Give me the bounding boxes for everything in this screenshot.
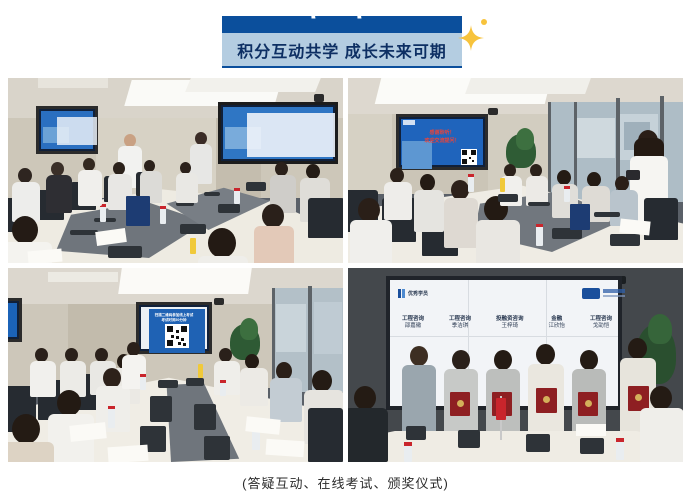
award-name: 季洁琪 xyxy=(449,323,471,330)
award-column: 投融资咨询王梓琦 xyxy=(496,316,524,330)
photo-bottom-left: 扫描二维码参加线上考试 考试时间30分钟 xyxy=(8,268,343,462)
award-category: 工程咨询 xyxy=(590,316,612,323)
award-column: 工程咨询邵嘉徽 xyxy=(402,316,424,330)
award-slide-title: 优秀学员 xyxy=(408,290,428,297)
banner-underline xyxy=(222,66,462,68)
photo-top-right: 感谢聆听！ 欢迎交流提问！ xyxy=(348,78,683,263)
award-name: 戈劭恺 xyxy=(590,323,612,330)
banner: ‘ ‘ 积分互动共学 成长未来可期 xyxy=(222,16,462,68)
award-column: 工程咨询戈劭恺 xyxy=(590,316,612,330)
award-column: 工程咨询季洁琪 xyxy=(449,316,471,330)
award-name: 江欣怡 xyxy=(548,323,565,330)
award-column: 金融江欣怡 xyxy=(548,316,565,330)
photo-top-left xyxy=(8,78,343,263)
photo-caption: (答疑互动、在线考试、颁奖仪式) xyxy=(0,473,691,492)
photo-grid: 感谢聆听！ 欢迎交流提问！ xyxy=(8,78,683,462)
photo-bottom-right: 优秀学员 工程咨询邵嘉徽工程咨询季洁琪投融资咨询王梓琦金融江欣怡工程咨询戈劭恺 xyxy=(348,268,683,462)
banner-top-bar xyxy=(222,16,462,33)
award-name: 邵嘉徽 xyxy=(402,323,424,330)
award-name: 王梓琦 xyxy=(496,323,524,330)
award-category: 工程咨询 xyxy=(402,316,424,323)
sparkle-dot-icon xyxy=(481,19,487,25)
banner-title: 积分互动共学 成长未来可期 xyxy=(222,33,462,66)
sparkle-star-icon xyxy=(458,25,484,51)
award-category: 工程咨询 xyxy=(449,316,471,323)
award-category: 金融 xyxy=(548,316,565,323)
award-category: 投融资咨询 xyxy=(496,316,524,323)
award-columns: 工程咨询邵嘉徽工程咨询季洁琪投融资咨询王梓琦金融江欣怡工程咨询戈劭恺 xyxy=(402,316,612,330)
header-area: ‘ ‘ 积分互动共学 成长未来可期 xyxy=(0,0,691,78)
